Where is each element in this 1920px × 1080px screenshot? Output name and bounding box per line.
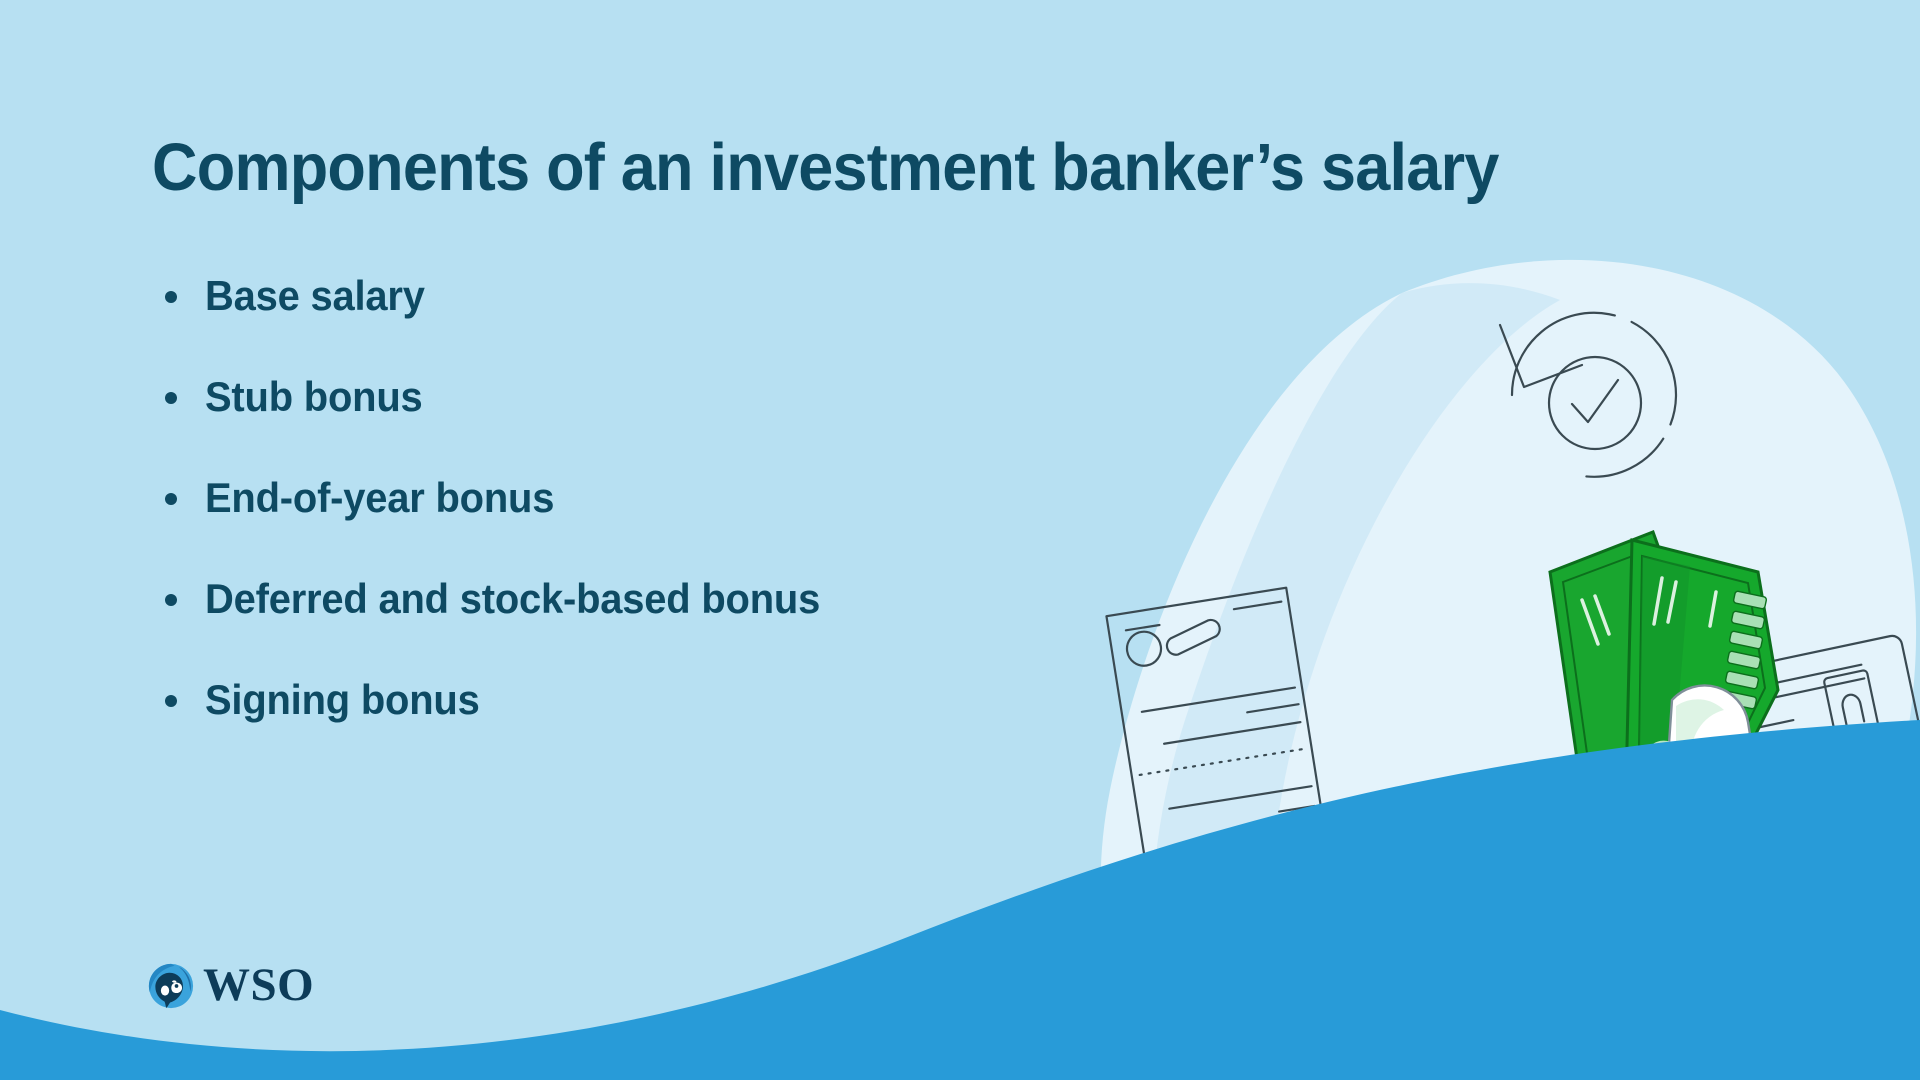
- list-item: Deferred and stock-based bonus: [152, 575, 1152, 676]
- list-item-label: End-of-year bonus: [205, 474, 554, 522]
- page-title: Components of an investment banker’s sal…: [152, 133, 1750, 203]
- bullet-dot-icon: [165, 392, 177, 404]
- bullet-dot-icon: [165, 291, 177, 303]
- bullet-dot-icon: [165, 493, 177, 505]
- list-item-label: Stub bonus: [205, 373, 423, 421]
- bullet-dot-icon: [165, 695, 177, 707]
- list-item: Signing bonus: [152, 676, 1152, 777]
- list-item-label: Base salary: [205, 272, 425, 320]
- wso-logo[interactable]: WSO: [148, 962, 314, 1009]
- list-item: Stub bonus: [152, 373, 1152, 474]
- list-item-label: Deferred and stock-based bonus: [205, 575, 820, 623]
- wso-globe-icon: [148, 963, 194, 1009]
- wso-wordmark: WSO: [203, 962, 314, 1009]
- list-item: Base salary: [152, 272, 1152, 373]
- salary-components-list: Base salary Stub bonus End-of-year bonus…: [152, 272, 1152, 777]
- list-item-label: Signing bonus: [205, 676, 480, 724]
- bullet-dot-icon: [165, 594, 177, 606]
- list-item: End-of-year bonus: [152, 474, 1152, 575]
- slide-canvas: Components of an investment banker’s sal…: [0, 0, 1920, 1080]
